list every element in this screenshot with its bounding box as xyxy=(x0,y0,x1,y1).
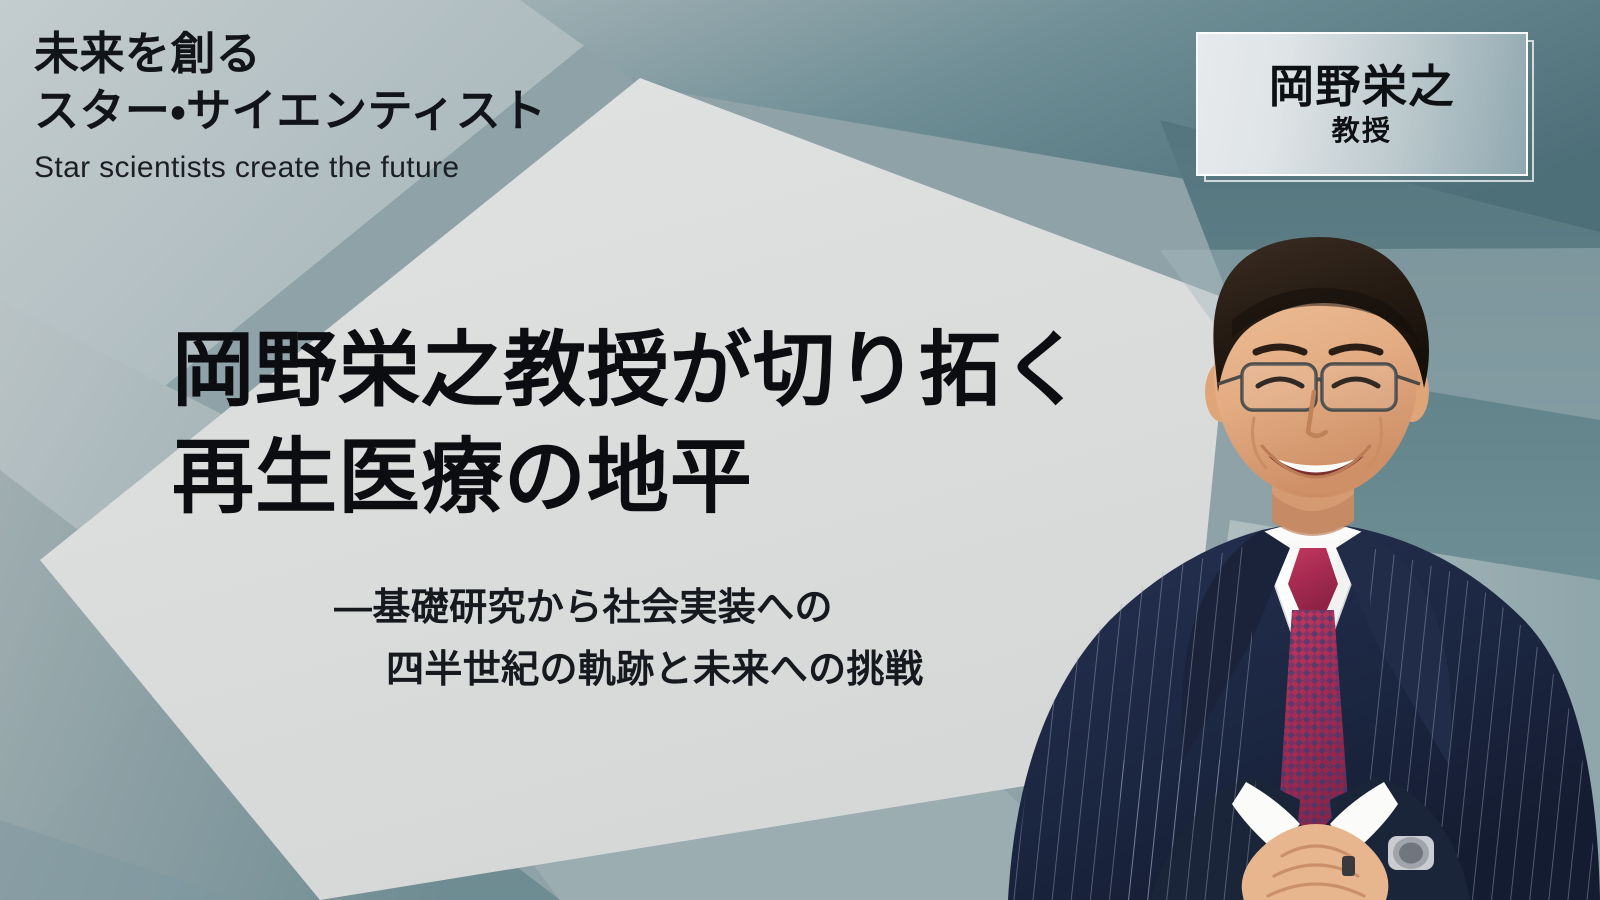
header-line-2: スター・サイエンティスト xyxy=(34,83,674,140)
subtitle-line-1: ―基礎研究から社会実装への xyxy=(334,578,1114,640)
banner-root: 未来を創る スター・サイエンティスト Star scientists creat… xyxy=(0,0,1600,900)
main-title-line-2: 再生医療の地平 xyxy=(172,425,1172,532)
badge-plate: 岡野栄之 教授 xyxy=(1196,32,1528,176)
header-tagline-en: Star scientists create the future xyxy=(34,151,674,185)
bg-shape-right-lower xyxy=(1180,520,1600,900)
main-title-line-1: 岡野栄之教授が切り拓く xyxy=(172,318,1172,425)
subtitle: ―基礎研究から社会実装への 四半世紀の軌跡と未来への挑戦 xyxy=(334,578,1114,701)
subtitle-line-2: 四半世紀の軌跡と未来への挑戦 xyxy=(334,640,1114,702)
header-block: 未来を創る スター・サイエンティスト Star scientists creat… xyxy=(34,26,674,185)
name-badge: 岡野栄之 教授 xyxy=(1196,32,1528,176)
main-title: 岡野栄之教授が切り拓く 再生医療の地平 xyxy=(172,318,1172,531)
header-line-1: 未来を創る xyxy=(34,26,674,83)
badge-person-title: 教授 xyxy=(1332,117,1392,145)
badge-person-name: 岡野栄之 xyxy=(1269,63,1455,110)
